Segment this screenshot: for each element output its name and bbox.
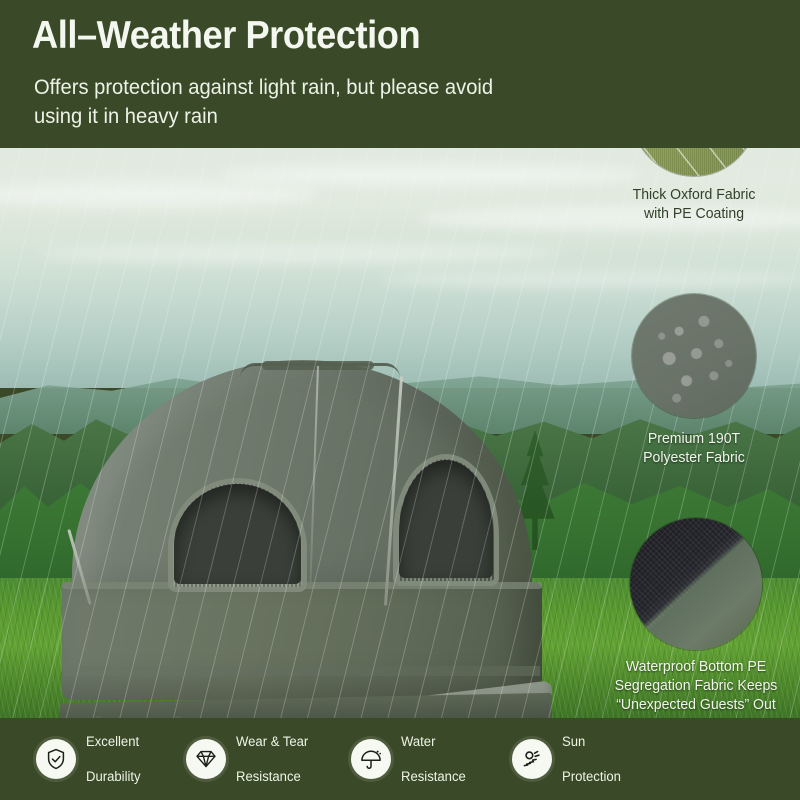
tent-body (62, 582, 542, 700)
callout-label: Premium 190T Polyester Fabric (616, 430, 771, 468)
cloud (40, 244, 560, 264)
feature-label-line: Water (401, 733, 466, 751)
feature-label-line: Excellent (86, 733, 141, 751)
feature-label-line: Resistance (401, 768, 466, 786)
callout-label-line: Premium 190T (616, 430, 771, 449)
sun-rays-icon (512, 739, 552, 779)
shield-check-icon (36, 739, 76, 779)
callout-label-line: Waterproof Bottom PE (609, 658, 784, 677)
swatch-polyester-fabric (632, 294, 756, 418)
page-title: All–Weather Protection (32, 16, 420, 55)
feature-label: Excellent Durability (86, 715, 141, 800)
feature-label: Wear & Tear Resistance (236, 715, 308, 800)
feature-label-line: Durability (86, 768, 141, 786)
callout-label-line: “Unexpected Guests” Out (609, 696, 784, 715)
pe-weave-texture (630, 518, 762, 650)
header-banner: All–Weather Protection Offers protection… (0, 0, 800, 148)
feature-label: Water Resistance (401, 715, 466, 800)
callout-polyester-fabric: Premium 190T Polyester Fabric (614, 294, 774, 468)
cloud (220, 164, 640, 186)
feature-water-resistance: Water Resistance (351, 715, 468, 800)
callout-label-line: Polyester Fabric (616, 449, 771, 468)
tent-body-band (64, 666, 540, 676)
callout-label-line: with PE Coating (616, 205, 771, 224)
callout-label-line: Thick Oxford Fabric (616, 186, 771, 205)
feature-label: Sun Protection (562, 715, 621, 800)
feature-label-line: Protection (562, 768, 621, 786)
feature-label-line: Sun (562, 733, 621, 751)
feature-bar: Excellent Durability Wear & Tear Resista… (0, 718, 800, 800)
cloud (380, 270, 800, 288)
callout-label: Thick Oxford Fabric with PE Coating (616, 186, 771, 224)
feature-excellent-durability: Excellent Durability (36, 715, 142, 800)
feature-label-line: Wear & Tear (236, 733, 308, 751)
feature-sun-protection: Sun Protection (512, 715, 623, 800)
feature-wear-tear-resistance: Wear & Tear Resistance (186, 715, 311, 800)
diamond-icon (186, 739, 226, 779)
umbrella-icon (351, 739, 391, 779)
feature-label-line: Resistance (236, 768, 308, 786)
page-subtitle: Offers protection against light rain, bu… (34, 74, 533, 131)
product-feature-graphic: All–Weather Protection Offers protection… (0, 0, 800, 800)
callout-label: Waterproof Bottom PE Segregation Fabric … (609, 658, 784, 715)
callout-label-line: Segregation Fabric Keeps (609, 677, 784, 696)
tent-cot-product (62, 360, 552, 718)
callout-waterproof-bottom: Waterproof Bottom PE Segregation Fabric … (606, 518, 786, 715)
swatch-waterproof-bottom (630, 518, 762, 650)
